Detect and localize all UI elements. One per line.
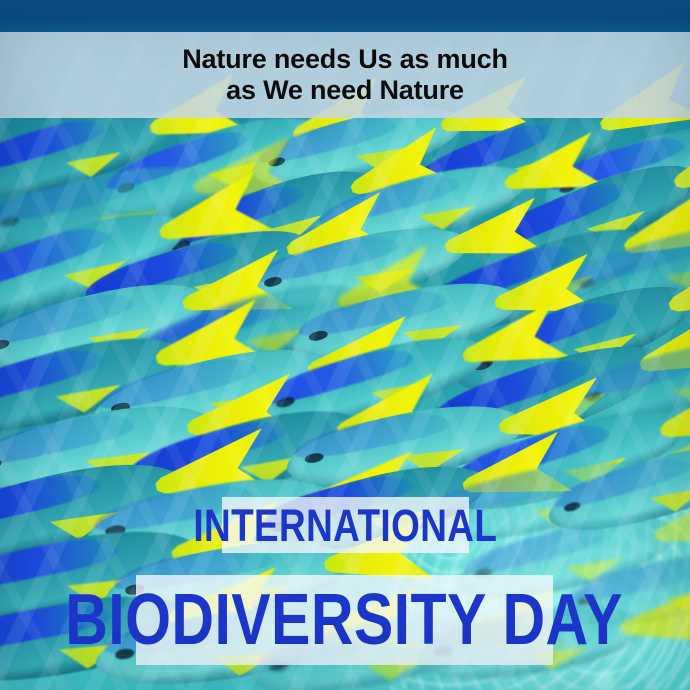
title-line-international: INTERNATIONAL [194,503,498,548]
title-plate-biodiversity-day: BIODIVERSITY DAY [136,575,553,665]
title-plate-international: INTERNATIONAL [222,497,469,553]
headline-line-1: Nature needs Us as much [182,44,508,75]
title-line-biodiversity-day: BIODIVERSITY DAY [66,584,624,656]
poster-canvas: Nature needs Us as much as We need Natur… [0,0,690,690]
headline-line-2: as We need Nature [226,75,464,106]
top-blue-strip [0,0,690,32]
headline-banner: Nature needs Us as much as We need Natur… [0,32,690,118]
